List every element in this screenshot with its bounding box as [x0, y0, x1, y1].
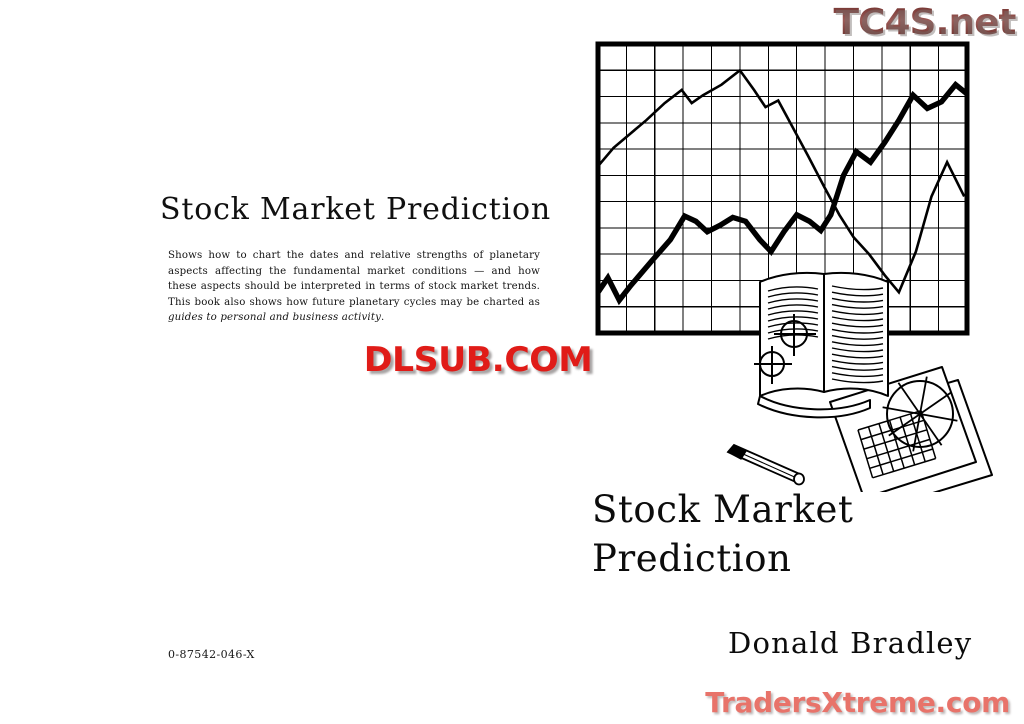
- watermark-tradersxtreme: TradersXtreme.com: [705, 686, 1010, 719]
- cover-desk-illustration: [720, 262, 1020, 492]
- blurb-text-tail: .: [381, 312, 384, 323]
- front-cover-panel: Stock Market Prediction Donald Bradley: [570, 0, 1024, 724]
- watermark-tc4s: TC4S.net: [834, 2, 1016, 43]
- book-cover-page: Stock Market Prediction Shows how to cha…: [0, 0, 1024, 724]
- book-right-page: [824, 273, 888, 396]
- desk-svg: [720, 262, 1020, 492]
- isbn-number: 0-87542-046-X: [168, 648, 255, 661]
- front-title-line-2: Prediction: [592, 534, 1012, 583]
- back-cover-blurb: Shows how to chart the dates and relativ…: [168, 248, 540, 326]
- blurb-text-main: Shows how to chart the dates and relativ…: [168, 250, 540, 308]
- pencil-icon: [728, 445, 804, 485]
- blurb-text-italic: guides to personal and business activity: [168, 312, 381, 323]
- front-cover-author: Donald Bradley: [728, 626, 972, 660]
- watermark-dlsub: DLSUB.COM: [364, 340, 592, 380]
- back-cover-title: Stock Market Prediction: [160, 192, 560, 227]
- front-title-line-1: Stock Market: [592, 485, 1012, 534]
- front-cover-title: Stock Market Prediction: [592, 485, 1012, 583]
